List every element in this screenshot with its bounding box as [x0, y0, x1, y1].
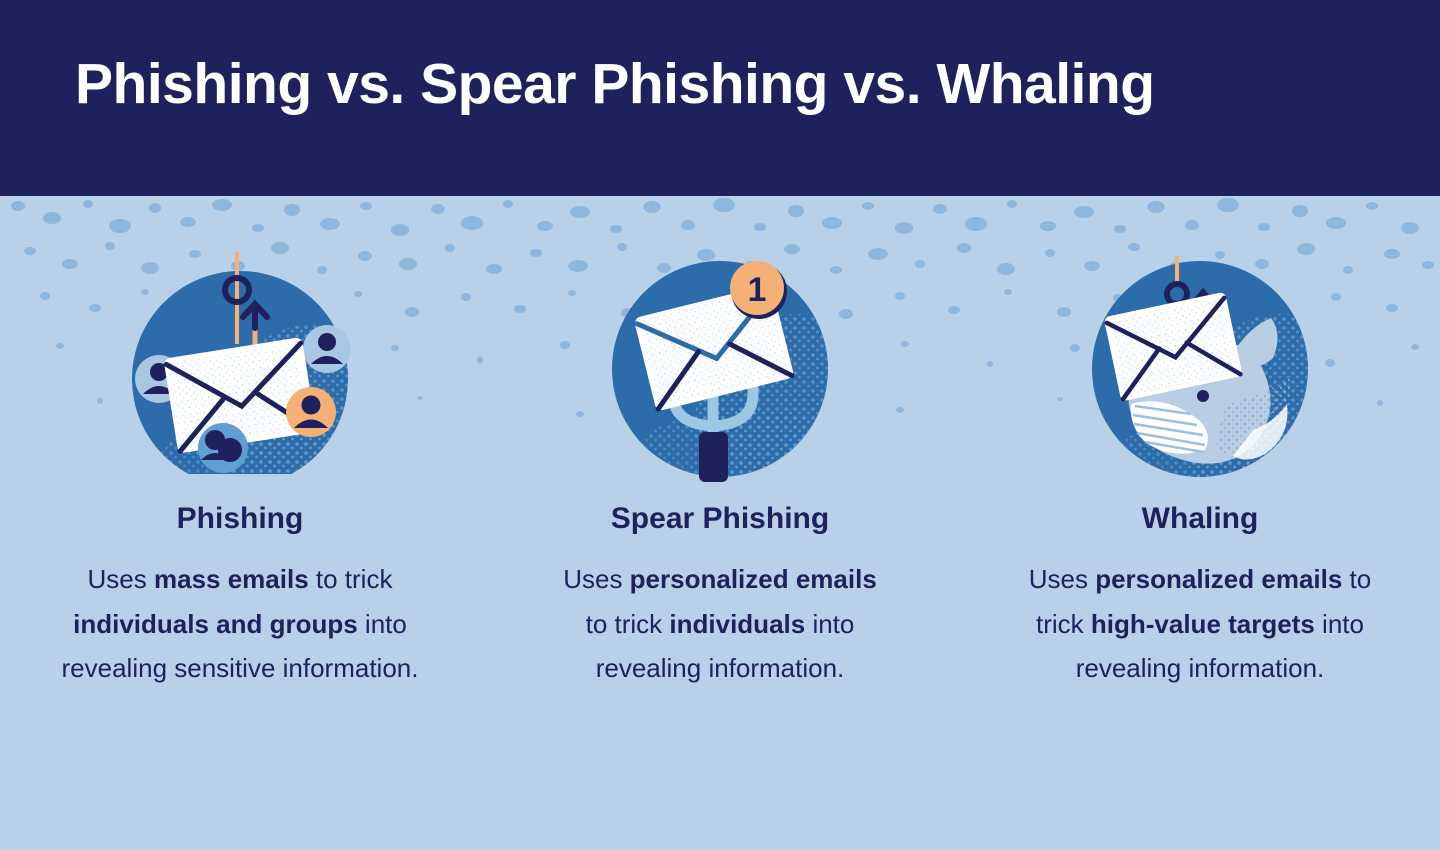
heading-spear-phishing: Spear Phishing — [611, 502, 829, 535]
whale-eye-icon — [1197, 390, 1209, 402]
avatar-single-right — [303, 325, 351, 373]
header-bar: Phishing vs. Spear Phishing vs. Whaling — [0, 0, 1440, 196]
column-whaling: Whaling Uses personalized emails to tric… — [960, 196, 1440, 691]
column-phishing: Phishing Uses mass emails to trick indiv… — [0, 196, 480, 691]
avatar-group — [198, 423, 248, 473]
body-spear-phishing: Uses personalized emails to trick indivi… — [555, 557, 885, 691]
body-phishing: Uses mass emails to trick individuals an… — [60, 557, 420, 691]
avatar-highlighted-orange — [286, 387, 336, 437]
phishing-hook-envelope-crowd-icon — [115, 244, 365, 474]
page-title: Phishing vs. Spear Phishing vs. Whaling — [75, 52, 1155, 118]
badge-number: 1 — [748, 271, 767, 309]
heading-phishing: Phishing — [177, 502, 304, 535]
spear-trident-envelope-icon: 1 — [595, 254, 845, 484]
column-spear-phishing: 1 Spear Phishing Uses personalized email… — [480, 196, 960, 691]
whale-hook-envelope-icon — [1075, 254, 1325, 484]
heading-whaling: Whaling — [1142, 502, 1259, 535]
comparison-columns: Phishing Uses mass emails to trick indiv… — [0, 196, 1440, 850]
body-whaling: Uses personalized emails to trick high-v… — [1005, 557, 1395, 691]
